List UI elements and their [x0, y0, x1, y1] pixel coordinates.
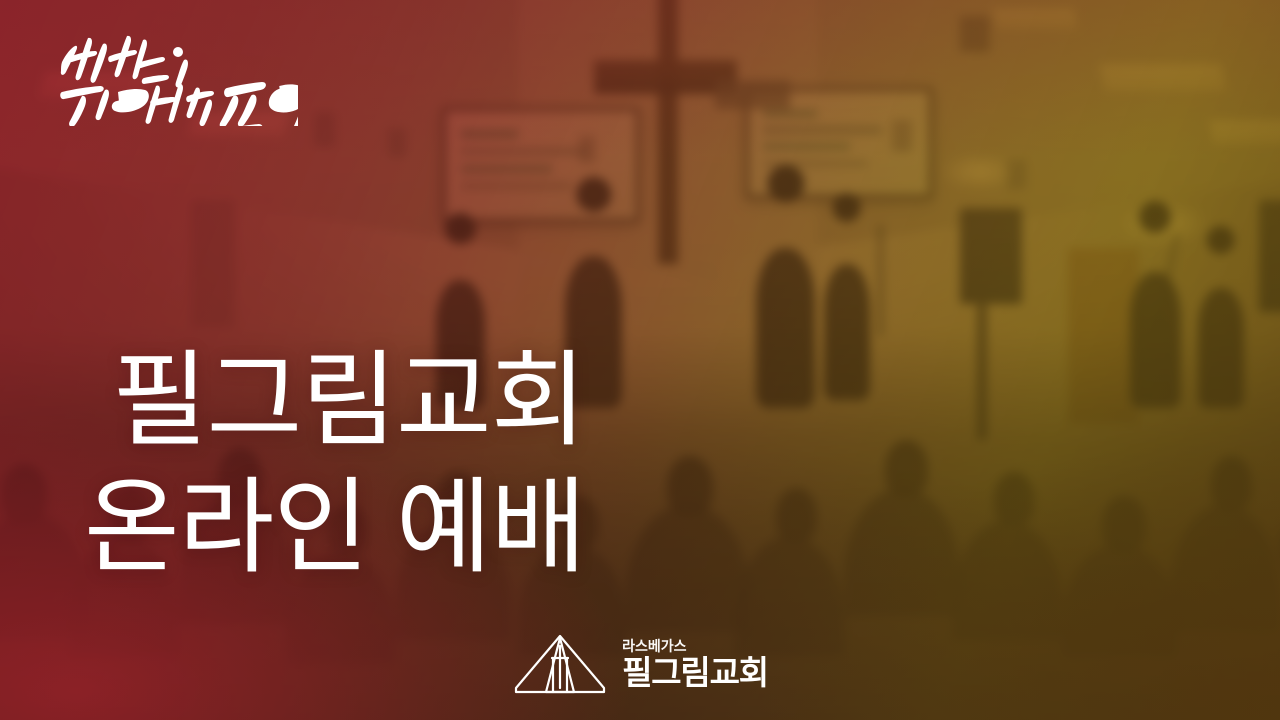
headline-line-1: 필그림교회 — [112, 338, 585, 465]
church-roof-cross-icon — [512, 632, 608, 696]
brush-script-logo — [48, 26, 298, 126]
brand-name: 필그림교회 — [622, 656, 768, 689]
brand-text-block: 라스베가스 필그림교회 — [622, 639, 768, 689]
headline-line-2: 온라인 예배 — [84, 465, 585, 592]
brand-lockup: 라스베가스 필그림교회 — [0, 632, 1280, 696]
slide-headline: 필그림교회 온라인 예배 — [112, 338, 585, 592]
slide-canvas: 필그림교회 온라인 예배 라스베가스 필그림교회 — [0, 0, 1280, 720]
brand-city: 라스베가스 — [622, 639, 686, 653]
brush-script-logo-icon — [48, 26, 298, 126]
